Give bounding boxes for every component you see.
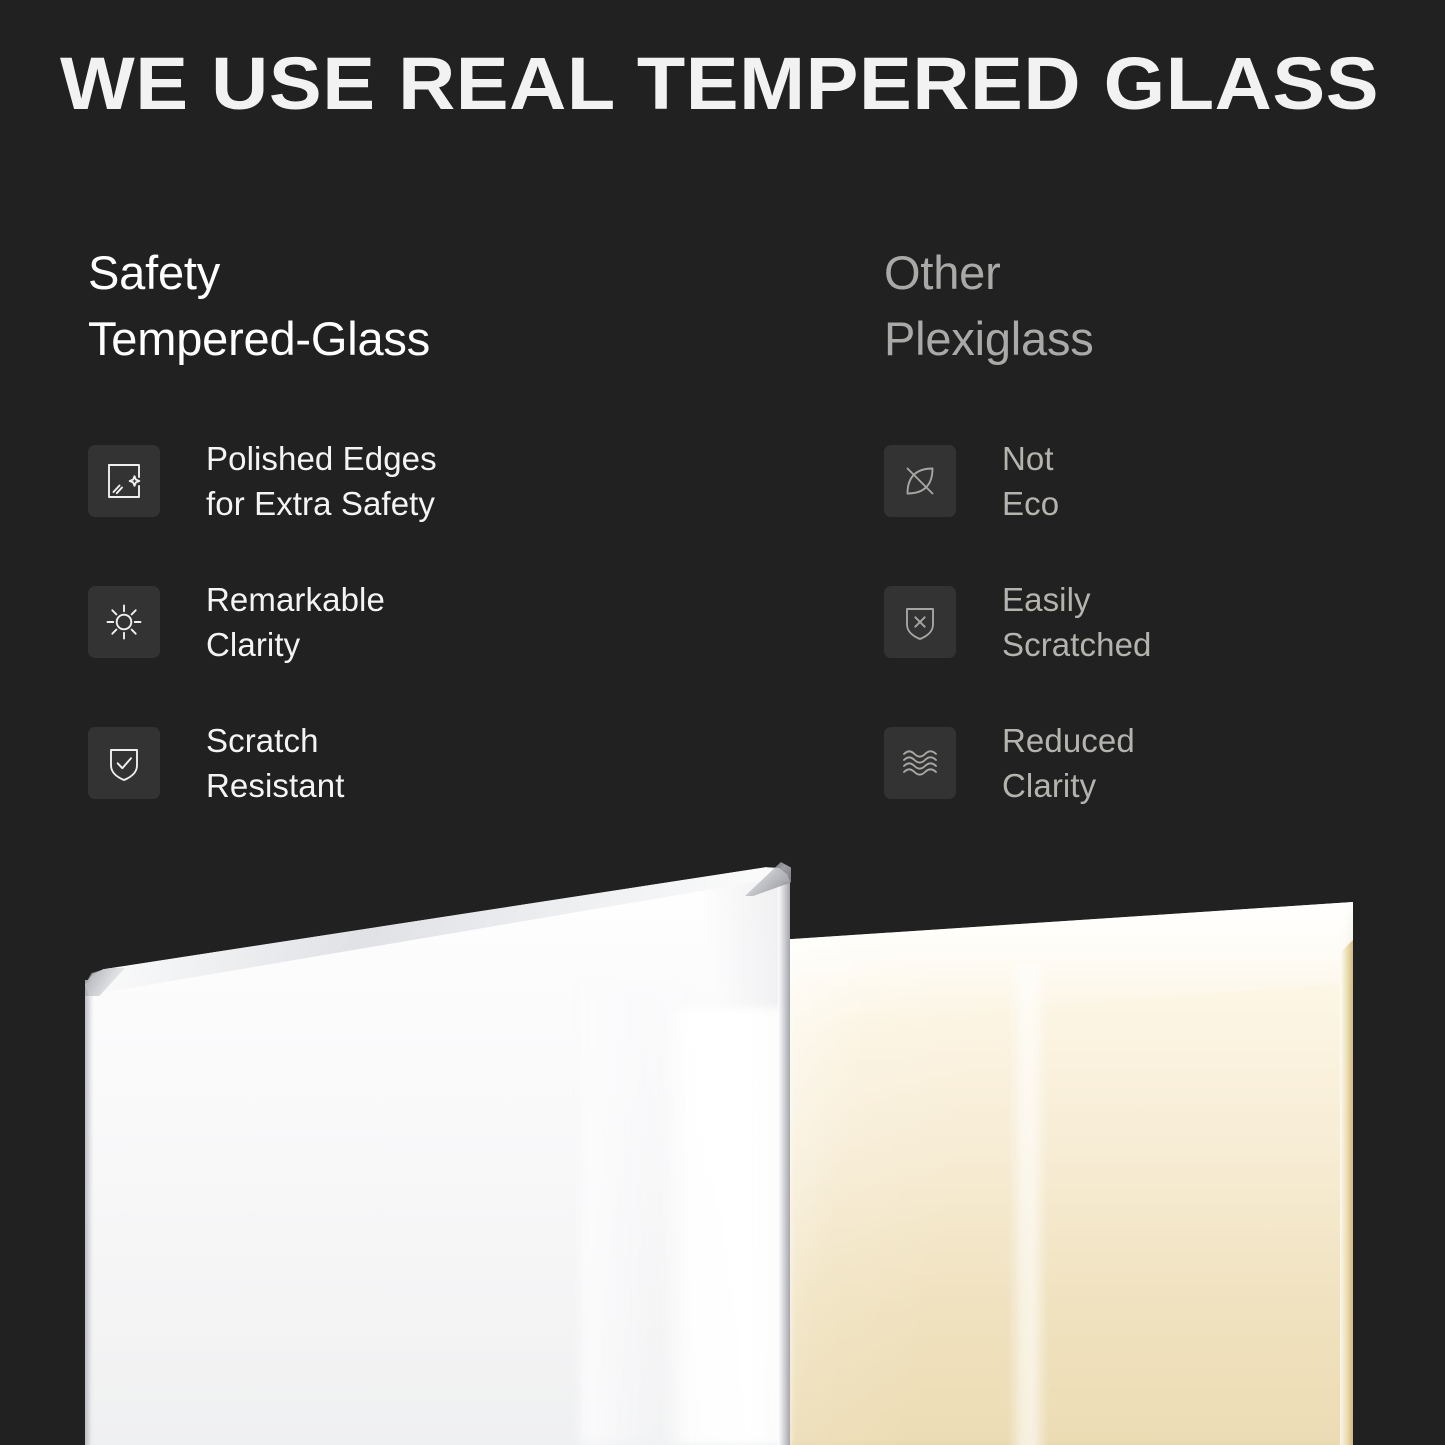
feature-row-polished-edges: Polished Edges for Extra Safety — [88, 445, 437, 517]
glass-edge-sheen — [660, 1008, 790, 1445]
feature-row-easily-scratched: Easily Scratched — [884, 586, 1151, 658]
feature-label: Remarkable Clarity — [206, 577, 385, 667]
wavy-lines-icon — [884, 727, 956, 799]
feature-label: Reduced Clarity — [1002, 718, 1135, 808]
feature-list-right: Not Eco Easily Scratched — [884, 445, 1151, 799]
comparison-infographic: WE USE REAL TEMPERED GLASS Safety Temper… — [0, 0, 1445, 1445]
feature-list-left: Polished Edges for Extra Safety — [88, 445, 437, 799]
glass-left-edge — [85, 980, 94, 1445]
column-heading-right: Other Plexiglass — [884, 240, 1424, 372]
feature-row-not-eco: Not Eco — [884, 445, 1151, 517]
plexi-reflection-streak — [1008, 964, 1048, 1445]
page-title: WE USE REAL TEMPERED GLASS — [60, 38, 1445, 130]
column-tempered-glass: Safety Tempered-Glass Polished Edges for… — [88, 240, 788, 372]
leaf-crossed-out-icon — [884, 445, 956, 517]
feature-label: Polished Edges for Extra Safety — [206, 436, 437, 526]
polished-glass-pane-sparkle-icon — [88, 445, 160, 517]
feature-label: Not Eco — [1002, 436, 1059, 526]
plexi-right-edge — [1340, 902, 1353, 1445]
feature-label: Easily Scratched — [1002, 577, 1151, 667]
feature-row-scratch-resistant: Scratch Resistant — [88, 727, 437, 799]
feature-label: Scratch Resistant — [206, 718, 344, 808]
shield-check-icon — [88, 727, 160, 799]
feature-row-remarkable-clarity: Remarkable Clarity — [88, 586, 437, 658]
column-plexiglass: Other Plexiglass Not Eco — [884, 240, 1424, 372]
product-photo — [0, 840, 1445, 1445]
shield-x-icon — [884, 586, 956, 658]
column-heading-left: Safety Tempered-Glass — [88, 240, 788, 372]
sun-clarity-icon — [88, 586, 160, 658]
glass-right-edge — [778, 882, 790, 1445]
feature-row-reduced-clarity: Reduced Clarity — [884, 727, 1151, 799]
